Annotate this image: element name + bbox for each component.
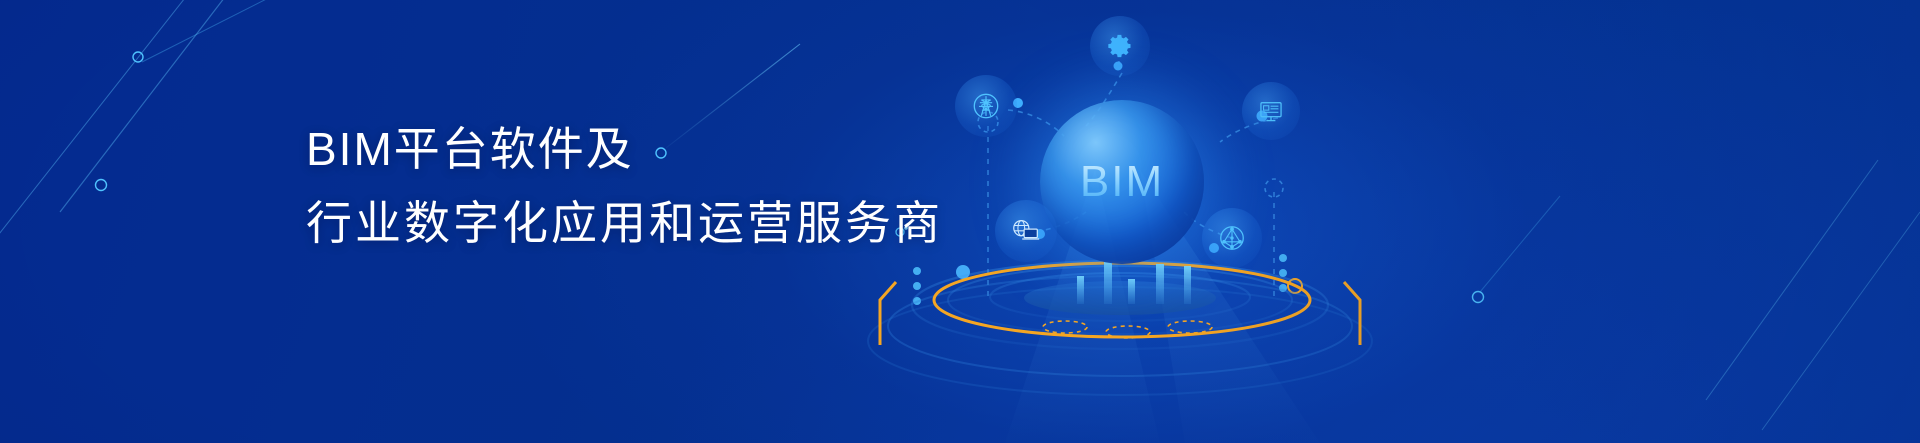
power-tower-icon (971, 91, 1001, 121)
monitor-icon (1257, 97, 1285, 125)
globe-laptop-icon (1010, 216, 1042, 246)
gear-icon (1106, 32, 1134, 60)
bim-artwork (0, 0, 1920, 443)
node-gear (1090, 16, 1150, 76)
node-power-tower (955, 75, 1017, 137)
node-monitor (1242, 82, 1300, 140)
node-network (1202, 208, 1262, 268)
node-globe-laptop (995, 200, 1057, 262)
network-icon (1217, 223, 1247, 253)
bim-sphere-label: BIM (1080, 157, 1164, 207)
hero-banner: BIM平台软件及 行业数字化应用和运营服务商 (0, 0, 1920, 443)
bim-sphere: BIM (1040, 100, 1204, 264)
